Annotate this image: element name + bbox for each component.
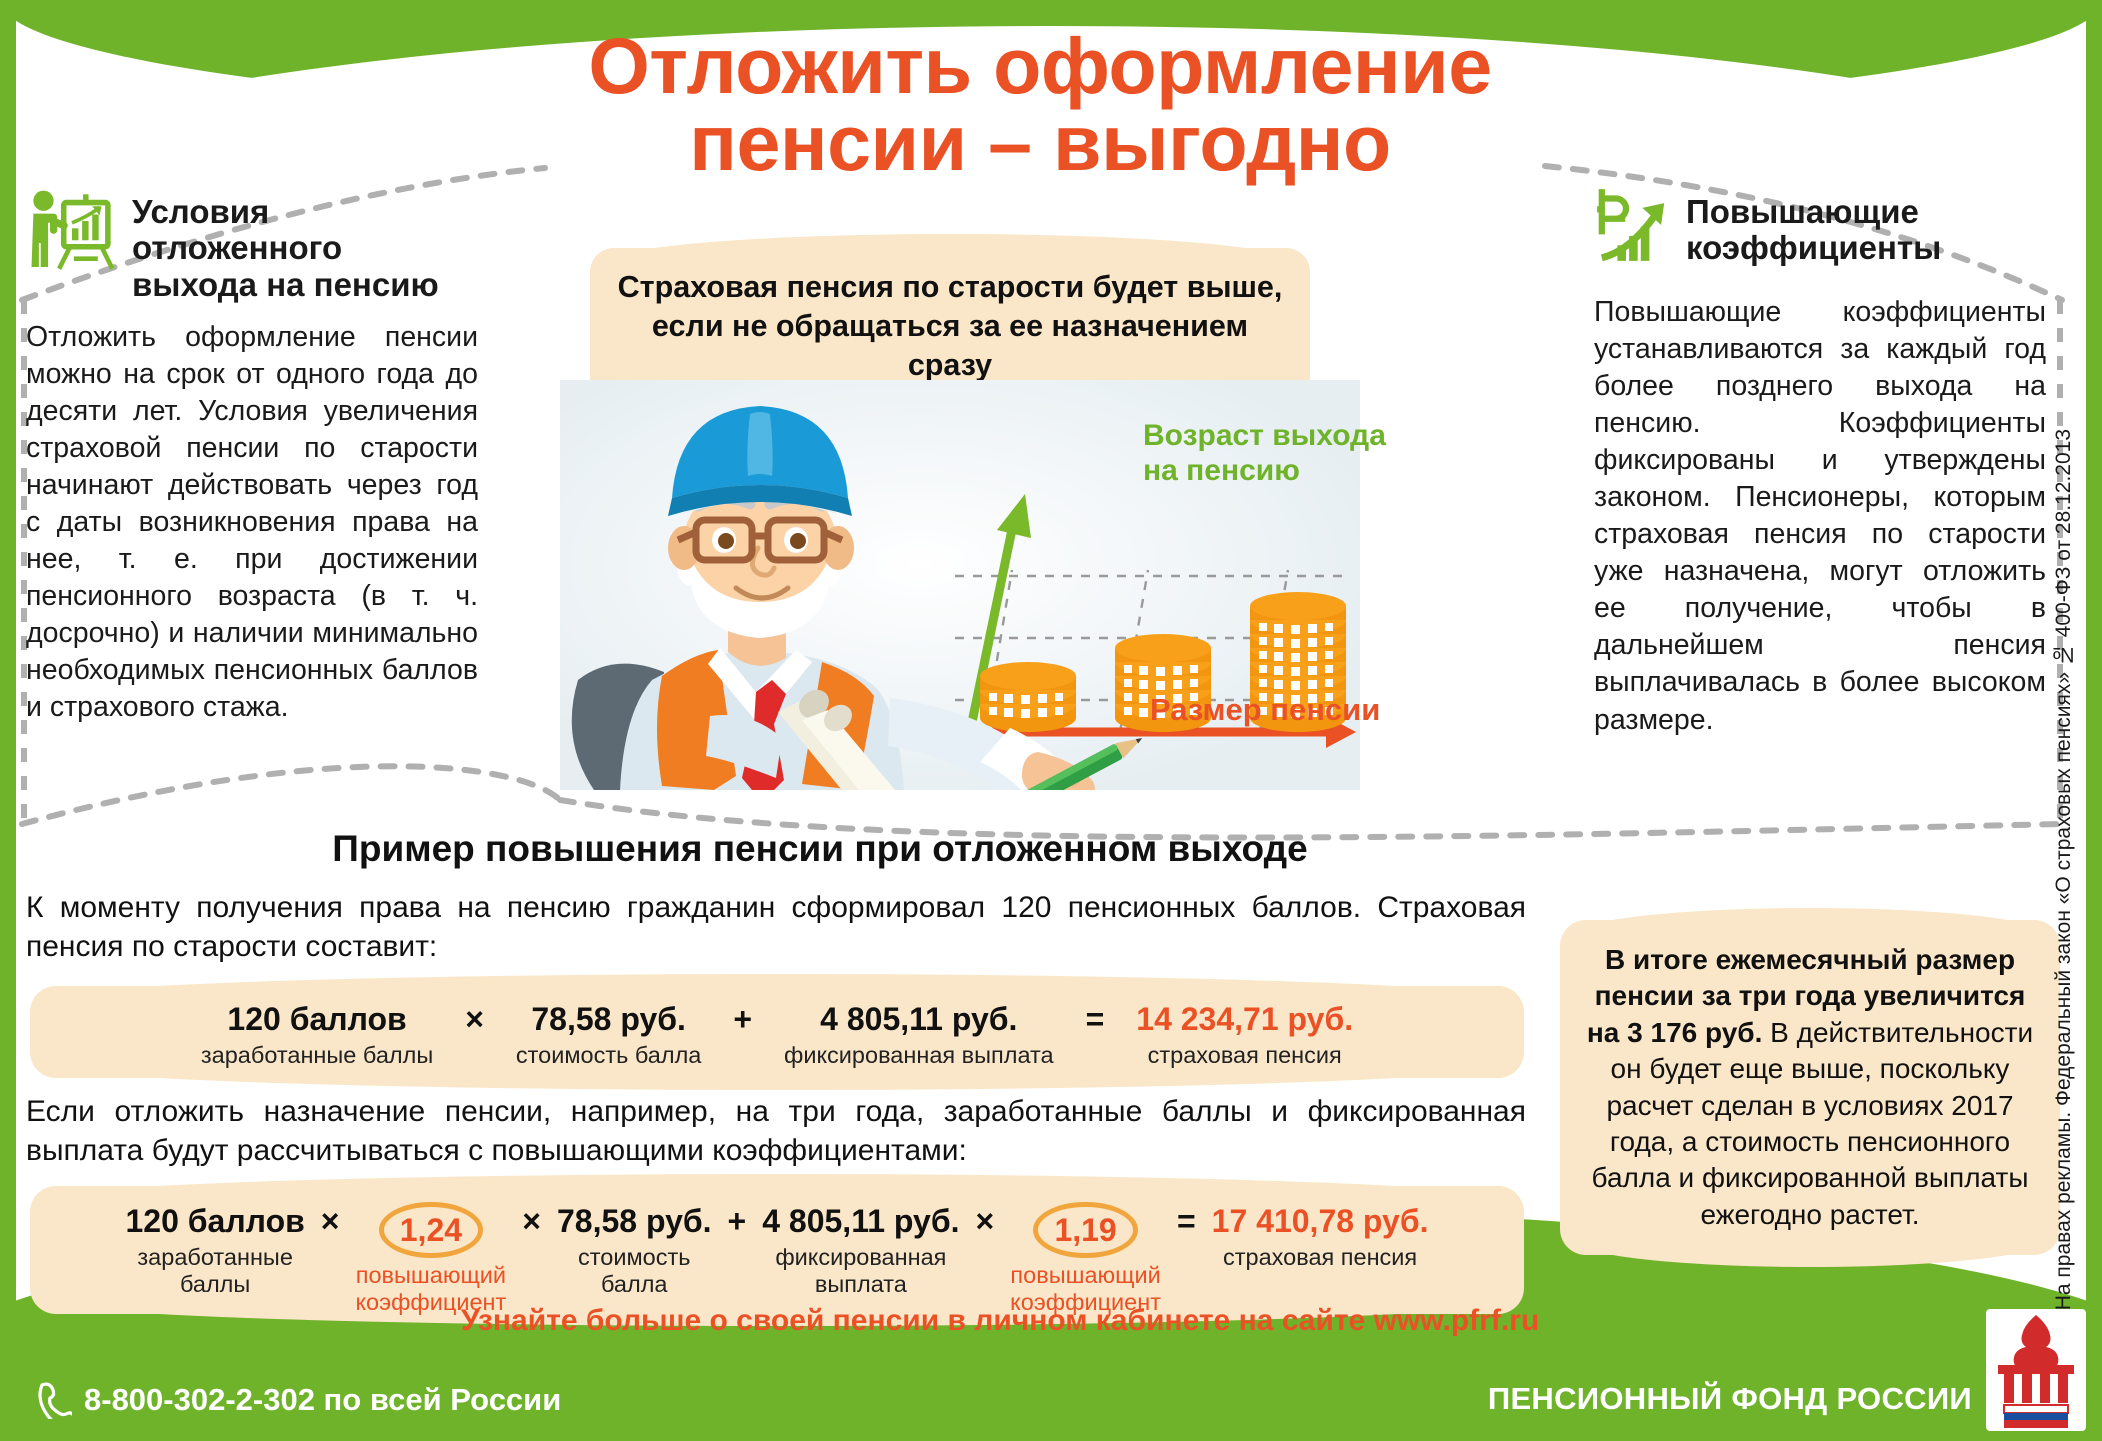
chart-x-axis-label: Размер пенсии: [1150, 692, 1380, 728]
presenter-chart-icon: [26, 186, 118, 278]
right-heading-line1: Повышающие: [1686, 193, 1919, 230]
footer-website-link[interactable]: Узнайте больше о своей пенсии в личном к…: [300, 1304, 1700, 1338]
formula1-caption-3: страховая пенсия: [1136, 1042, 1353, 1068]
right-column-body: Повышающие коэффициенты устанавливаются …: [1594, 294, 2046, 739]
formula2-cell-1: 1,24 повышающий коэффициент: [355, 1202, 506, 1315]
formula1-value-2: 4 805,11 руб.: [784, 1000, 1054, 1038]
footer-phone[interactable]: 8-800-302-2-302 по всей России: [34, 1381, 561, 1419]
right-heading-line2: коэффициенты: [1686, 229, 1941, 266]
right-column-heading: Повышающие коэффициенты: [1686, 186, 1941, 267]
formula1-cell-3: 14 234,71 руб. страховая пенсия: [1136, 1000, 1353, 1069]
left-column-body: Отложить оформление пенсии можно на срок…: [26, 319, 478, 727]
footer-brand-name: ПЕНСИОННЫЙ ФОНД РОССИИ: [1488, 1381, 1972, 1417]
y-axis-line1: Возраст выхода: [1143, 419, 1386, 452]
formula2-value-3: 4 805,11 руб.: [762, 1202, 959, 1240]
bottom-section-title: Пример повышения пенсии при отложенном в…: [110, 828, 1530, 870]
formula2-op-4: =: [1175, 1202, 1198, 1240]
formula-row-1: 120 баллов заработанные баллы × 78,58 ру…: [30, 986, 1524, 1078]
page-title-line1: Отложить оформление: [588, 21, 1491, 110]
right-column: Повышающие коэффициенты Повышающие коэфф…: [1594, 186, 2046, 739]
left-heading-line1: Условия отложенного: [132, 193, 342, 266]
formula1-value-0: 120 баллов: [201, 1000, 433, 1038]
formula1-op-1: +: [731, 1000, 754, 1038]
coin-stack-1: [980, 662, 1076, 732]
right-column-header: Повышающие коэффициенты: [1594, 186, 2046, 278]
bottom-paragraph-2: Если отложить назначение пенсии, наприме…: [26, 1092, 1526, 1170]
formula2-op-2: +: [726, 1202, 749, 1240]
formula2-value-2: 78,58 руб.: [557, 1202, 712, 1240]
formula2-value-0: 120 баллов: [126, 1202, 305, 1240]
formula2-caption-5: страховая пенсия: [1212, 1244, 1429, 1270]
formula-row-2: 120 баллов заработанные баллы × 1,24 пов…: [30, 1186, 1524, 1314]
formula2-value-5: 17 410,78 руб.: [1212, 1202, 1429, 1240]
formula2-op-1: ×: [520, 1202, 543, 1240]
bottom-paragraph-1: К моменту получения права на пенсию граж…: [26, 888, 1526, 966]
page-title: Отложить оформление пенсии – выгодно: [380, 28, 1700, 181]
callout-line2: если не обращаться за ее назначением сра…: [652, 309, 1248, 382]
left-column: Условия отложенного выхода на пенсию Отл…: [26, 186, 478, 726]
formula2-value-1: 1,24: [379, 1202, 483, 1258]
formula1-caption-0: заработанные баллы: [201, 1042, 433, 1068]
left-column-header: Условия отложенного выхода на пенсию: [26, 186, 478, 303]
legal-disclaimer: На правах рекламы. Федеральный закон «О …: [2044, 0, 2084, 1310]
formula2-value-4: 1,19: [1033, 1202, 1137, 1258]
formula1-op-0: ×: [463, 1000, 486, 1038]
summary-rest: В действительности он будет еще выше, по…: [1592, 1017, 2034, 1230]
formula2-op-3: ×: [973, 1202, 996, 1240]
formula2-cell-4: 1,19 повышающий коэффициент: [1010, 1202, 1161, 1315]
callout-line1: Страховая пенсия по старости будет выше,: [618, 270, 1283, 304]
pfr-emblem-logo: [1984, 1307, 2088, 1433]
formula2-op-0: ×: [319, 1202, 342, 1240]
formula2-caption-3: фиксированная выплата: [762, 1244, 959, 1297]
formula1-caption-1: стоимость балла: [516, 1042, 701, 1068]
chart-y-axis-label: Возраст выхода на пенсию: [1143, 418, 1386, 489]
legal-text: На правах рекламы. Федеральный закон «О …: [2052, 423, 2076, 1310]
formula1-op-2: =: [1084, 1000, 1107, 1038]
left-column-heading: Условия отложенного выхода на пенсию: [132, 186, 478, 303]
formula1-cell-1: 78,58 руб. стоимость балла: [516, 1000, 701, 1069]
formula2-caption-2: стоимость балла: [557, 1244, 712, 1297]
page-title-line2: пенсии – выгодно: [380, 105, 1700, 182]
y-axis-line2: на пенсию: [1143, 454, 1300, 487]
green-right-border: [2086, 0, 2102, 1441]
left-heading-line2: выхода на пенсию: [132, 266, 439, 303]
formula1-caption-2: фиксированная выплата: [784, 1042, 1054, 1068]
infographic-poster: Отложить оформление пенсии – выгодно: [0, 0, 2102, 1441]
footer-phone-text: 8-800-302-2-302 по всей России: [84, 1382, 561, 1418]
phone-handset-icon: [34, 1381, 72, 1419]
formula1-value-1: 78,58 руб.: [516, 1000, 701, 1038]
formula2-cell-3: 4 805,11 руб. фиксированная выплата: [762, 1202, 959, 1297]
formula2-cell-2: 78,58 руб. стоимость балла: [557, 1202, 712, 1297]
ruble-growth-chart-icon: [1594, 186, 1672, 264]
formula2-cell-5: 17 410,78 руб. страховая пенсия: [1212, 1202, 1429, 1271]
formula1-cell-0: 120 баллов заработанные баллы: [201, 1000, 433, 1069]
summary-box: В итоге ежемесячный размер пенсии за три…: [1560, 920, 2060, 1255]
formula2-cell-0: 120 баллов заработанные баллы: [126, 1202, 305, 1297]
formula1-value-3: 14 234,71 руб.: [1136, 1000, 1353, 1038]
formula1-cell-2: 4 805,11 руб. фиксированная выплата: [784, 1000, 1054, 1069]
formula2-caption-0: заработанные баллы: [126, 1244, 305, 1297]
green-left-border: [0, 0, 16, 1441]
